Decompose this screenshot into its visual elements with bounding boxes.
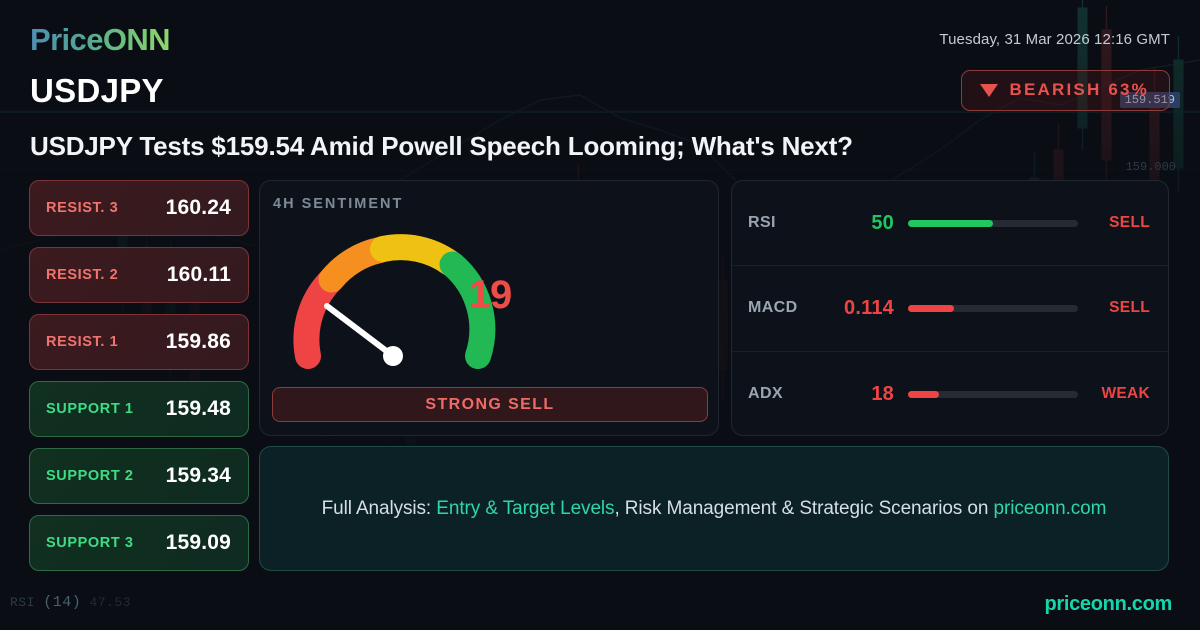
indicator-value: 0.114: [836, 297, 908, 320]
indicator-bar-fill: [908, 305, 954, 312]
level-value: 159.09: [166, 531, 231, 555]
level-value: 159.86: [166, 330, 231, 354]
indicator-signal: WEAK: [1078, 385, 1150, 403]
cta-domain[interactable]: priceonn.com: [994, 498, 1107, 519]
table-row: MACD 0.114 SELL: [732, 266, 1168, 351]
gauge-arc-buy: [383, 247, 450, 263]
table-row: RSI 50 SELL: [732, 181, 1168, 266]
level-value: 160.24: [166, 196, 231, 220]
level-label: SUPPORT 2: [46, 468, 134, 484]
list-item: SUPPORT 2 159.34: [29, 448, 249, 504]
footer-brand: priceonn.com: [1044, 593, 1172, 616]
level-label: RESIST. 2: [46, 267, 118, 283]
sentiment-panel: 4H SENTIMENT 19 STRONG SELL: [259, 180, 719, 436]
status-badge: BEARISH 63%: [961, 70, 1170, 111]
indicator-bar-fill: [908, 391, 939, 398]
indicator-signal: SELL: [1078, 214, 1150, 232]
sentiment-score: 19: [260, 273, 720, 318]
indicator-value: 50: [836, 212, 908, 235]
indicator-bar-fill: [908, 220, 993, 227]
indicator-bar-track: [908, 220, 1078, 227]
cta-banner[interactable]: Full Analysis: Entry & Target Levels, Ri…: [259, 446, 1169, 571]
level-value: 159.48: [166, 397, 231, 421]
indicator-name: MACD: [748, 299, 836, 317]
indicator-signal: SELL: [1078, 299, 1150, 317]
status-badge-label: BEARISH 63%: [1010, 80, 1149, 100]
timestamp: Tuesday, 31 Mar 2026 12:16 GMT: [939, 31, 1170, 48]
brand-logo: PriceONN: [30, 22, 170, 58]
list-item: SUPPORT 3 159.09: [29, 515, 249, 571]
headline: USDJPY Tests $159.54 Amid Powell Speech …: [30, 131, 853, 162]
list-item: RESIST. 3 160.24: [29, 180, 249, 236]
indicator-bar-track: [908, 305, 1078, 312]
indicator-name: ADX: [748, 385, 836, 403]
page-title: USDJPY: [30, 72, 164, 110]
cta-prefix: Full Analysis:: [322, 498, 437, 519]
infographic-card: 159.519 159.000 RSI (14) 47.53 PriceONN …: [0, 0, 1200, 630]
cta-link[interactable]: Entry & Target Levels: [436, 498, 614, 519]
cta-middle: , Risk Management & Strategic Scenarios …: [614, 498, 993, 519]
cta-text: Full Analysis: Entry & Target Levels, Ri…: [322, 498, 1107, 520]
level-label: SUPPORT 1: [46, 401, 134, 417]
gauge-needle-hub: [383, 346, 403, 366]
indicators-panel: RSI 50 SELL MACD 0.114 SELL ADX 18: [731, 180, 1169, 436]
triangle-down-icon: [980, 84, 998, 97]
level-label: RESIST. 1: [46, 334, 118, 350]
list-item: SUPPORT 1 159.48: [29, 381, 249, 437]
indicator-bar-track: [908, 391, 1078, 398]
sentiment-panel-title: 4H SENTIMENT: [273, 196, 403, 212]
level-value: 160.11: [167, 263, 231, 287]
table-row: ADX 18 WEAK: [732, 352, 1168, 437]
level-label: RESIST. 3: [46, 200, 118, 216]
price-levels-list: RESIST. 3 160.24 RESIST. 2 160.11 RESIST…: [29, 180, 249, 582]
level-label: SUPPORT 3: [46, 535, 134, 551]
indicator-name: RSI: [748, 214, 836, 232]
sentiment-verdict: STRONG SELL: [272, 387, 708, 422]
level-value: 159.34: [166, 464, 231, 488]
indicator-value: 18: [836, 383, 908, 406]
list-item: RESIST. 1 159.86: [29, 314, 249, 370]
list-item: RESIST. 2 160.11: [29, 247, 249, 303]
